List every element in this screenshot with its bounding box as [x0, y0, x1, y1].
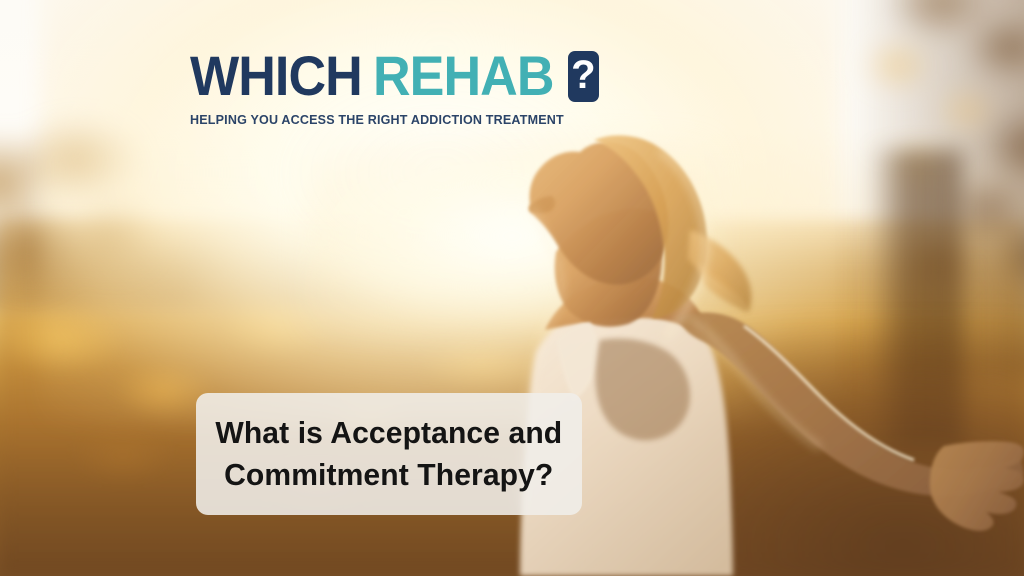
logo-word-which: WHICH [190, 48, 362, 104]
logo-wordmark: WHICH REHAB ? [190, 48, 490, 104]
hero-title-line-2: Commitment Therapy? [224, 454, 553, 496]
logo-word-rehab: REHAB [373, 48, 554, 104]
logo-tagline: HELPING YOU ACCESS THE RIGHT ADDICTION T… [190, 112, 475, 127]
hero-title-line-1: What is Acceptance and [216, 412, 563, 454]
site-logo[interactable]: WHICH REHAB ? HELPING YOU ACCESS THE RIG… [190, 48, 490, 127]
question-mark-icon: ? [568, 51, 599, 102]
question-mark-glyph: ? [571, 55, 595, 95]
hero-banner: WHICH REHAB ? HELPING YOU ACCESS THE RIG… [0, 0, 1024, 576]
hero-title-card: What is Acceptance and Commitment Therap… [196, 393, 582, 515]
